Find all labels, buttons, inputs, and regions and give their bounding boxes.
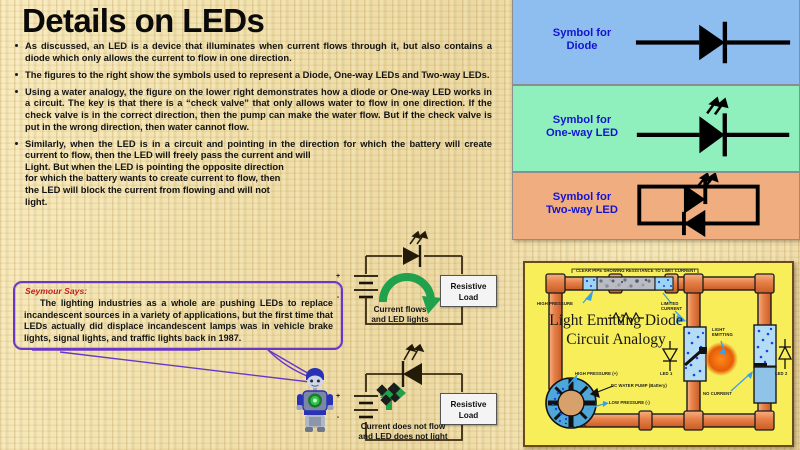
- list-item: The figures to the right show the symbol…: [12, 69, 492, 81]
- symbol-box-two-way-led: Symbol for Two-way LED: [512, 172, 800, 240]
- one-way-led-symbol-icon: [631, 86, 799, 171]
- label-limited-current-line2: CURRENT: [661, 306, 682, 311]
- water-analogy-art: [525, 263, 792, 445]
- label-dc-water-pump: DC WATER PUMP (Battery): [611, 383, 667, 388]
- list-item-line: for which the battery wants to create cu…: [25, 172, 492, 184]
- symbol-box-diode: Symbol for Diode: [512, 0, 800, 85]
- list-item-line: light.: [25, 196, 492, 208]
- list-item: Using a water analogy, the figure on the…: [12, 86, 492, 132]
- battery-plus-label: +: [318, 392, 358, 402]
- reverse-biased-circuit: Resistive Load Current does not flow and…: [352, 340, 510, 448]
- battery-minus-label: -: [318, 413, 358, 423]
- label-low-pressure-minus: LOW PRESSURE (-): [609, 400, 650, 405]
- diode-symbol-icon: [631, 0, 799, 84]
- label-high-pressure: HIGH PRESSURE: [537, 301, 573, 306]
- label-resistor-r: R: [621, 314, 624, 319]
- symbol-box-one-way-led: Symbol for One-way LED: [512, 85, 800, 172]
- reverse-circuit-caption: Current does not flow and LED does not l…: [324, 422, 482, 442]
- label-high-pressure-plus: HIGH PRESSURE (+): [575, 371, 618, 376]
- symbol-box-two-way-led-label: Symbol for Two-way LED: [529, 191, 635, 217]
- battery-plus-label: +: [318, 272, 358, 282]
- list-item: As discussed, an LED is a device that il…: [12, 40, 492, 63]
- water-analogy-diagram: Light Emitting Diode Circuit Analogy CLE…: [523, 261, 794, 447]
- symbol-box-one-way-led-label: Symbol for One-way LED: [529, 114, 635, 140]
- label-clear-pipe: CLEAR PIPE SHOWING RESISTANCE TO LIMIT C…: [573, 268, 699, 273]
- resistive-load-box: Resistive Load: [440, 393, 497, 425]
- water-analogy-title: Light Emitting Diode Circuit Analogy: [541, 311, 691, 349]
- label-led1: LED 1: [660, 371, 672, 376]
- label-light-emitting-line2: EMITTING: [712, 332, 733, 337]
- slide-canvas: Details on LEDs As discussed, an LED is …: [0, 0, 800, 450]
- forward-biased-circuit: Resistive Load Current flows and LED lig…: [352, 226, 510, 334]
- list-item-line: Similarly, when the LED is in a circuit …: [25, 138, 492, 161]
- forward-circuit-caption: Current flows and LED lights: [330, 305, 470, 325]
- symbol-box-diode-label: Symbol for Diode: [529, 27, 635, 53]
- list-item-line: Light. But when the LED is pointing the …: [25, 161, 492, 173]
- resistive-load-box: Resistive Load: [440, 275, 497, 307]
- seymour-says-callout: Seymour Says: The lighting industries as…: [13, 281, 343, 350]
- bullet-list: As discussed, an LED is a device that il…: [12, 40, 492, 213]
- label-led2: LED 2: [775, 371, 787, 376]
- list-item-line: the LED will block the current from flow…: [25, 184, 290, 196]
- seymour-says-label: Seymour Says:: [25, 286, 87, 296]
- page-title: Details on LEDs: [22, 4, 264, 39]
- seymour-says-body: The lighting industries as a whole are p…: [24, 298, 333, 344]
- label-no-current: NO CURRENT: [703, 391, 732, 396]
- list-item: Similarly, when the LED is in a circuit …: [12, 138, 492, 208]
- battery-minus-label: -: [318, 293, 358, 303]
- two-way-led-symbol-icon: [631, 173, 799, 239]
